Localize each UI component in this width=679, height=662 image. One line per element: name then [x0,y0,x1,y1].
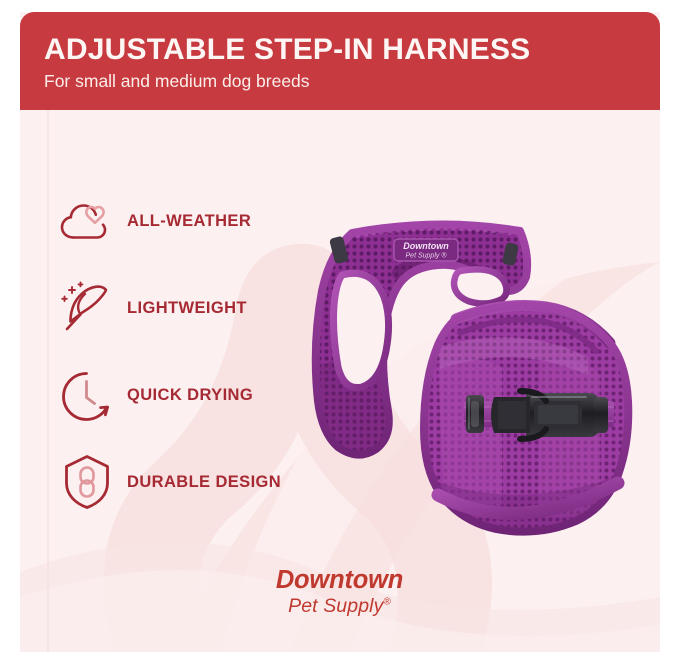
product-image: Downtown Pet Supply ® [288,215,679,565]
feather-sparkle-icon [58,279,116,337]
feature-list: ALL-WEATHER LIGHTWEIGHT [58,190,308,538]
page-title: ADJUSTABLE STEP-IN HARNESS [44,34,660,66]
product-infographic: ADJUSTABLE STEP-IN HARNESS For small and… [0,0,679,662]
harness-front [424,306,632,546]
registered-trademark-icon: ® [383,596,390,607]
feature-item-durable-design: DURABLE DESIGN [58,451,308,513]
page-subtitle: For small and medium dog breeds [44,72,660,91]
brand-name-secondary: Pet Supply® [0,597,679,617]
clock-arrow-icon [58,366,116,424]
cloud-heart-icon [58,192,116,250]
brand-name-primary: Downtown [0,568,679,594]
feature-label-all-weather: ALL-WEATHER [127,212,251,231]
svg-text:Downtown: Downtown [403,241,449,251]
brand-logo: Downtown Pet Supply® [0,568,679,616]
header-banner: ADJUSTABLE STEP-IN HARNESS For small and… [20,12,660,110]
svg-text:Pet Supply ®: Pet Supply ® [406,252,448,260]
feature-item-lightweight: LIGHTWEIGHT [58,277,308,339]
feature-item-all-weather: ALL-WEATHER [58,190,308,252]
feature-label-lightweight: LIGHTWEIGHT [127,299,247,318]
feature-label-quick-drying: QUICK DRYING [127,386,253,405]
feature-item-quick-drying: QUICK DRYING [58,364,308,426]
harness-illustration: Downtown Pet Supply ® [288,215,679,565]
shield-chain-icon [58,453,116,511]
feature-label-durable-design: DURABLE DESIGN [127,473,281,492]
harness-brand-tag: Downtown Pet Supply ® [394,239,458,261]
